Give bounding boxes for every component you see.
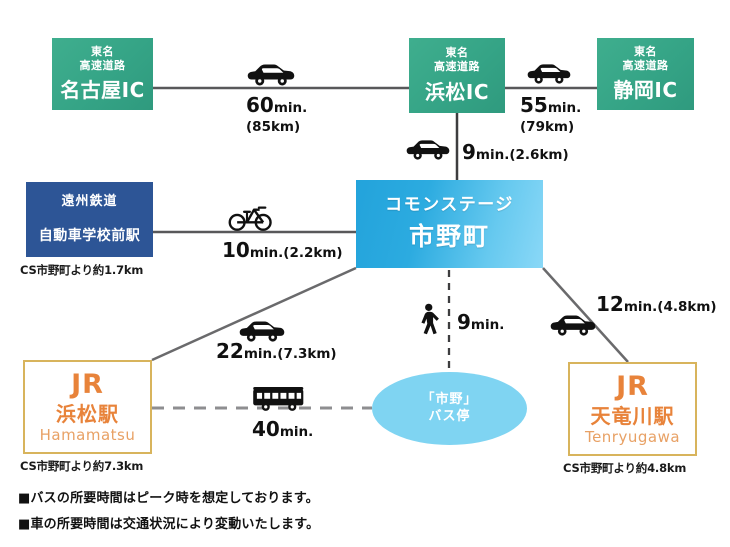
edge-label-center-jrhamamatsu: 22min.(7.3km)	[216, 339, 337, 363]
enshu-rail-caption: CS市野町より約1.7km	[20, 262, 143, 278]
node-enshu-rail-station[interactable]: 遠州鉄道 自動車学校前駅	[26, 182, 153, 257]
enshu-rail-name: 自動車学校前駅	[39, 228, 141, 244]
footnotes: ■バスの所要時間はピーク時を想定しております。 ■車の所要時間は交通状況により変…	[18, 487, 319, 539]
car-icon	[406, 138, 450, 162]
edge-label-nagoya-hamamatsu: 60min. (85km)	[246, 93, 307, 135]
edge-label-center-busstop: 9min.	[457, 310, 504, 334]
car-icon	[247, 62, 295, 88]
jr-tenryugawa-logo: JR	[616, 371, 649, 402]
edge-distance: (4.8km)	[657, 299, 716, 315]
access-map-diagram: 東名 高速道路 名古屋IC 東名 高速道路 浜松IC 東名 高速道路 静岡IC …	[0, 0, 730, 547]
edge-unit: min.	[244, 346, 277, 362]
edge-minutes: 55	[520, 93, 548, 117]
edge-distance: (2.2km)	[283, 245, 342, 261]
jr-tenryugawa-romaji: Tenryugawa	[585, 429, 680, 446]
hamamatsu-ic-sub-line2: 高速道路	[434, 61, 480, 74]
jr-tenryugawa-caption: CS市野町より約4.8km	[563, 460, 686, 476]
edge-distance: (7.3km)	[277, 346, 336, 362]
car-icon	[527, 62, 571, 86]
edge-minutes: 22	[216, 339, 244, 363]
walking-icon	[417, 303, 439, 335]
edge-minutes: 40	[252, 417, 280, 441]
shizuoka-ic-name: 静岡IC	[613, 79, 677, 102]
center-name: 市野町	[409, 223, 490, 252]
footnote-car: ■車の所要時間は交通状況により変動いたします。	[18, 513, 319, 532]
edge-unit: min.	[471, 317, 504, 333]
hamamatsu-ic-name: 浜松IC	[425, 81, 489, 104]
node-jr-hamamatsu[interactable]: JR 浜松駅 Hamamatsu	[23, 360, 152, 454]
edge-label-rail-center: 10min.(2.2km)	[222, 238, 343, 262]
node-jr-tenryugawa[interactable]: JR 天竜川駅 Tenryugawa	[568, 362, 697, 456]
jr-hamamatsu-romaji: Hamamatsu	[40, 427, 136, 444]
nagoya-ic-sub-line2: 高速道路	[80, 60, 126, 73]
node-hamamatsu-ic[interactable]: 東名 高速道路 浜松IC	[409, 38, 505, 113]
node-ichino-bus-stop[interactable]: 「市野」 バス停	[372, 372, 527, 445]
bus-stop-line2: バス停	[428, 409, 470, 425]
shizuoka-ic-sub-line1: 東名	[634, 46, 657, 59]
node-shizuoka-ic[interactable]: 東名 高速道路 静岡IC	[597, 38, 694, 110]
bus-icon	[251, 386, 307, 413]
edge-unit: min.	[280, 424, 313, 440]
edge-label-hamamatsu-shizuoka: 55min. (79km)	[520, 93, 581, 135]
edge-unit: min.	[274, 100, 307, 116]
edge-distance: (2.6km)	[509, 147, 568, 163]
node-nagoya-ic[interactable]: 東名 高速道路 名古屋IC	[52, 38, 153, 110]
edge-unit: min.	[250, 245, 283, 261]
edge-minutes: 9	[457, 310, 471, 334]
nagoya-ic-sub-line1: 東名	[91, 46, 114, 59]
edge-minutes: 10	[222, 238, 250, 262]
bus-stop-line1: 「市野」	[421, 392, 477, 408]
edge-minutes: 12	[596, 292, 624, 316]
node-commons-stage-center[interactable]: コモンステージ 市野町	[356, 180, 543, 268]
center-sub: コモンステージ	[385, 196, 514, 216]
edge-minutes: 9	[462, 140, 476, 164]
enshu-rail-sub: 遠州鉄道	[61, 195, 117, 210]
edge-distance: (85km)	[246, 119, 307, 135]
edge-unit: min.	[624, 299, 657, 315]
footnote-bus: ■バスの所要時間はピーク時を想定しております。	[18, 487, 319, 506]
edge-unit: min.	[476, 147, 509, 163]
hamamatsu-ic-sub-line1: 東名	[446, 47, 469, 60]
jr-hamamatsu-name: 浜松駅	[56, 403, 119, 426]
jr-tenryugawa-name: 天竜川駅	[591, 405, 675, 428]
shizuoka-ic-sub-line2: 高速道路	[623, 60, 669, 73]
edge-distance: (79km)	[520, 119, 581, 135]
edge-label-center-jrtenryugawa: 12min.(4.8km)	[596, 292, 717, 316]
car-icon	[550, 313, 596, 338]
edge-unit: min.	[548, 100, 581, 116]
edge-label-jrhamamatsu-busstop: 40min.	[252, 417, 313, 441]
nagoya-ic-name: 名古屋IC	[60, 79, 145, 102]
jr-hamamatsu-logo: JR	[71, 369, 104, 400]
bicycle-icon	[228, 200, 273, 232]
jr-hamamatsu-caption: CS市野町より約7.3km	[20, 458, 143, 474]
edge-label-hamamatsu-ic-center: 9min.(2.6km)	[462, 140, 569, 164]
edge-minutes: 60	[246, 93, 274, 117]
